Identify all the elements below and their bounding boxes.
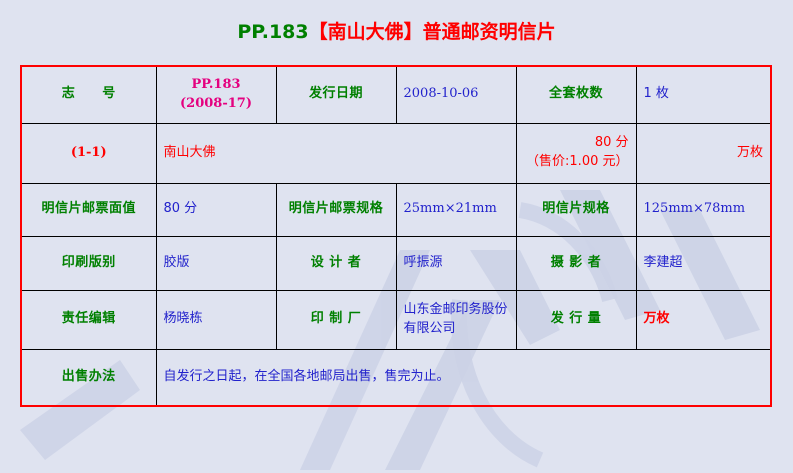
cell-value-sequence: (1-1) [21, 123, 156, 183]
table-row: (1-1) 南山大佛 80 分 （售价:1.00 元） 万枚 [21, 123, 771, 183]
cell-value-set-count: 1 枚 [636, 66, 771, 123]
cell-value-photographer: 李建超 [636, 236, 771, 290]
code-line-2: (2008-17) [164, 95, 269, 114]
cell-label-zhi-hao: 志 号 [21, 66, 156, 123]
table-row: 出售办法 自发行之日起，在全国各地邮局出售，售完为止。 [21, 349, 771, 406]
cell-label-sale-method: 出售办法 [21, 349, 156, 406]
cell-label-stamp-face: 明信片邮票面值 [21, 183, 156, 236]
cell-label-photographer: 摄 影 者 [516, 236, 636, 290]
cell-label-printer: 印 制 厂 [276, 290, 396, 349]
cell-label-print-type: 印刷版别 [21, 236, 156, 290]
title-suffix: 普通邮资明信片 [423, 21, 556, 43]
cell-value-card-size: 125mm×78mm [636, 183, 771, 236]
cell-value-face-value-combo: 80 分 （售价:1.00 元） [516, 123, 636, 183]
cell-value-issue-date: 2008-10-06 [396, 66, 516, 123]
table-row: 印刷版别 胶版 设 计 者 呼振源 摄 影 者 李建超 [21, 236, 771, 290]
cell-value-code: PP.183 (2008-17) [156, 66, 276, 123]
title-name: 【南山大佛】 [309, 21, 423, 43]
cell-value-sale-method: 自发行之日起，在全国各地邮局出售，售完为止。 [156, 349, 771, 406]
cell-label-stamp-size: 明信片邮票规格 [276, 183, 396, 236]
stamp-info-table: 志 号 PP.183 (2008-17) 发行日期 2008-10-06 全套枚… [20, 65, 772, 407]
table-row: 志 号 PP.183 (2008-17) 发行日期 2008-10-06 全套枚… [21, 66, 771, 123]
cell-label-card-size: 明信片规格 [516, 183, 636, 236]
cell-value-printer: 山东金邮印务股份有限公司 [396, 290, 516, 349]
cell-value-print-qty-short: 万枚 [636, 123, 771, 183]
cell-value-print-type: 胶版 [156, 236, 276, 290]
cell-value-designer: 呼振源 [396, 236, 516, 290]
face-value-line-2: （售价:1.00 元） [524, 153, 629, 172]
cell-value-stamp-face: 80 分 [156, 183, 276, 236]
cell-value-print-qty: 万枚 [636, 290, 771, 349]
cell-value-stamp-size: 25mm×21mm [396, 183, 516, 236]
code-line-1: PP.183 [164, 76, 269, 95]
table-row: 责任编辑 杨晓栋 印 制 厂 山东金邮印务股份有限公司 发 行 量 万枚 [21, 290, 771, 349]
face-value-line-1: 80 分 [524, 134, 629, 153]
cell-label-issue-date: 发行日期 [276, 66, 396, 123]
cell-value-editor: 杨晓栋 [156, 290, 276, 349]
title-code: PP.183 [237, 21, 308, 43]
cell-value-card-name: 南山大佛 [156, 123, 516, 183]
cell-label-set-count: 全套枚数 [516, 66, 636, 123]
cell-label-editor: 责任编辑 [21, 290, 156, 349]
cell-label-designer: 设 计 者 [276, 236, 396, 290]
table-row: 明信片邮票面值 80 分 明信片邮票规格 25mm×21mm 明信片规格 125… [21, 183, 771, 236]
cell-label-print-qty: 发 行 量 [516, 290, 636, 349]
page-title: PP.183【南山大佛】普通邮资明信片 [0, 17, 793, 44]
